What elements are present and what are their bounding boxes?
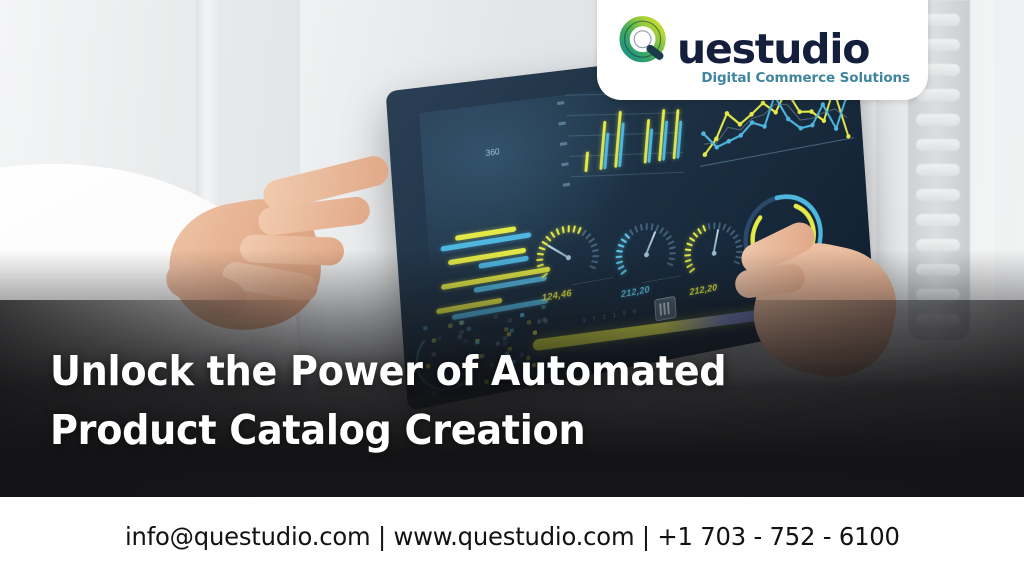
chart-bar (584, 152, 589, 173)
gauge-tick (686, 242, 693, 246)
gauge-tick (640, 224, 643, 231)
logo-tagline: Digital Commerce Solutions (615, 70, 912, 86)
gauge-tick (577, 227, 582, 234)
rib-slat (916, 189, 960, 201)
rib-slat (916, 139, 960, 151)
gauge-tick (545, 235, 551, 241)
gauge-tick (692, 232, 698, 238)
headline-line-2: Product Catalog Creation (50, 401, 887, 460)
chart-baseline (700, 138, 855, 167)
gauge-tick (562, 226, 565, 234)
contact-footer: info@questudio.com | www.questudio.com |… (0, 497, 1024, 576)
chart-gridline (571, 172, 685, 178)
q-ring-icon (615, 11, 675, 71)
gauge-tick (572, 225, 576, 232)
gauge-tick (629, 229, 634, 236)
headline-line-1: Unlock the Power of Automated (50, 342, 887, 401)
ring-widget-label: 360 (485, 147, 500, 158)
gauge-tick (550, 231, 556, 238)
gauge-tick (722, 223, 726, 230)
gauge-tick (590, 243, 597, 248)
gauge-tick (702, 225, 706, 232)
page-title: Unlock the Power of Automated Product Ca… (50, 342, 950, 461)
logo-card: uestudio Digital Commerce Solutions (597, 0, 928, 100)
gauge-tick (713, 222, 715, 229)
gauge-tick (588, 237, 595, 243)
gauge-tick (708, 223, 711, 230)
gauge-tick (618, 244, 625, 248)
concentric-rings-widget: 360 (444, 95, 556, 213)
logo-row: uestudio (615, 9, 912, 69)
marketing-banner: 360 124,46—————— ————212,20—————— ————21… (0, 0, 1024, 576)
gauge-tick (634, 226, 638, 233)
gauge-tick (650, 223, 653, 230)
gauge-tick (646, 223, 648, 230)
logo-wordmark: uestudio (677, 31, 869, 69)
gauge-tick (624, 233, 630, 239)
gauge-tick (665, 235, 672, 241)
gauge-tick (556, 228, 560, 235)
gauge-tick (689, 237, 696, 242)
gauge-tick (620, 238, 627, 243)
gauge-tick (668, 240, 675, 245)
gauge-tick (697, 228, 702, 235)
rib-slat (916, 114, 960, 126)
contact-text[interactable]: info@questudio.com | www.questudio.com |… (125, 522, 900, 551)
gauge-tick (568, 225, 570, 232)
rib-slat (916, 164, 960, 176)
